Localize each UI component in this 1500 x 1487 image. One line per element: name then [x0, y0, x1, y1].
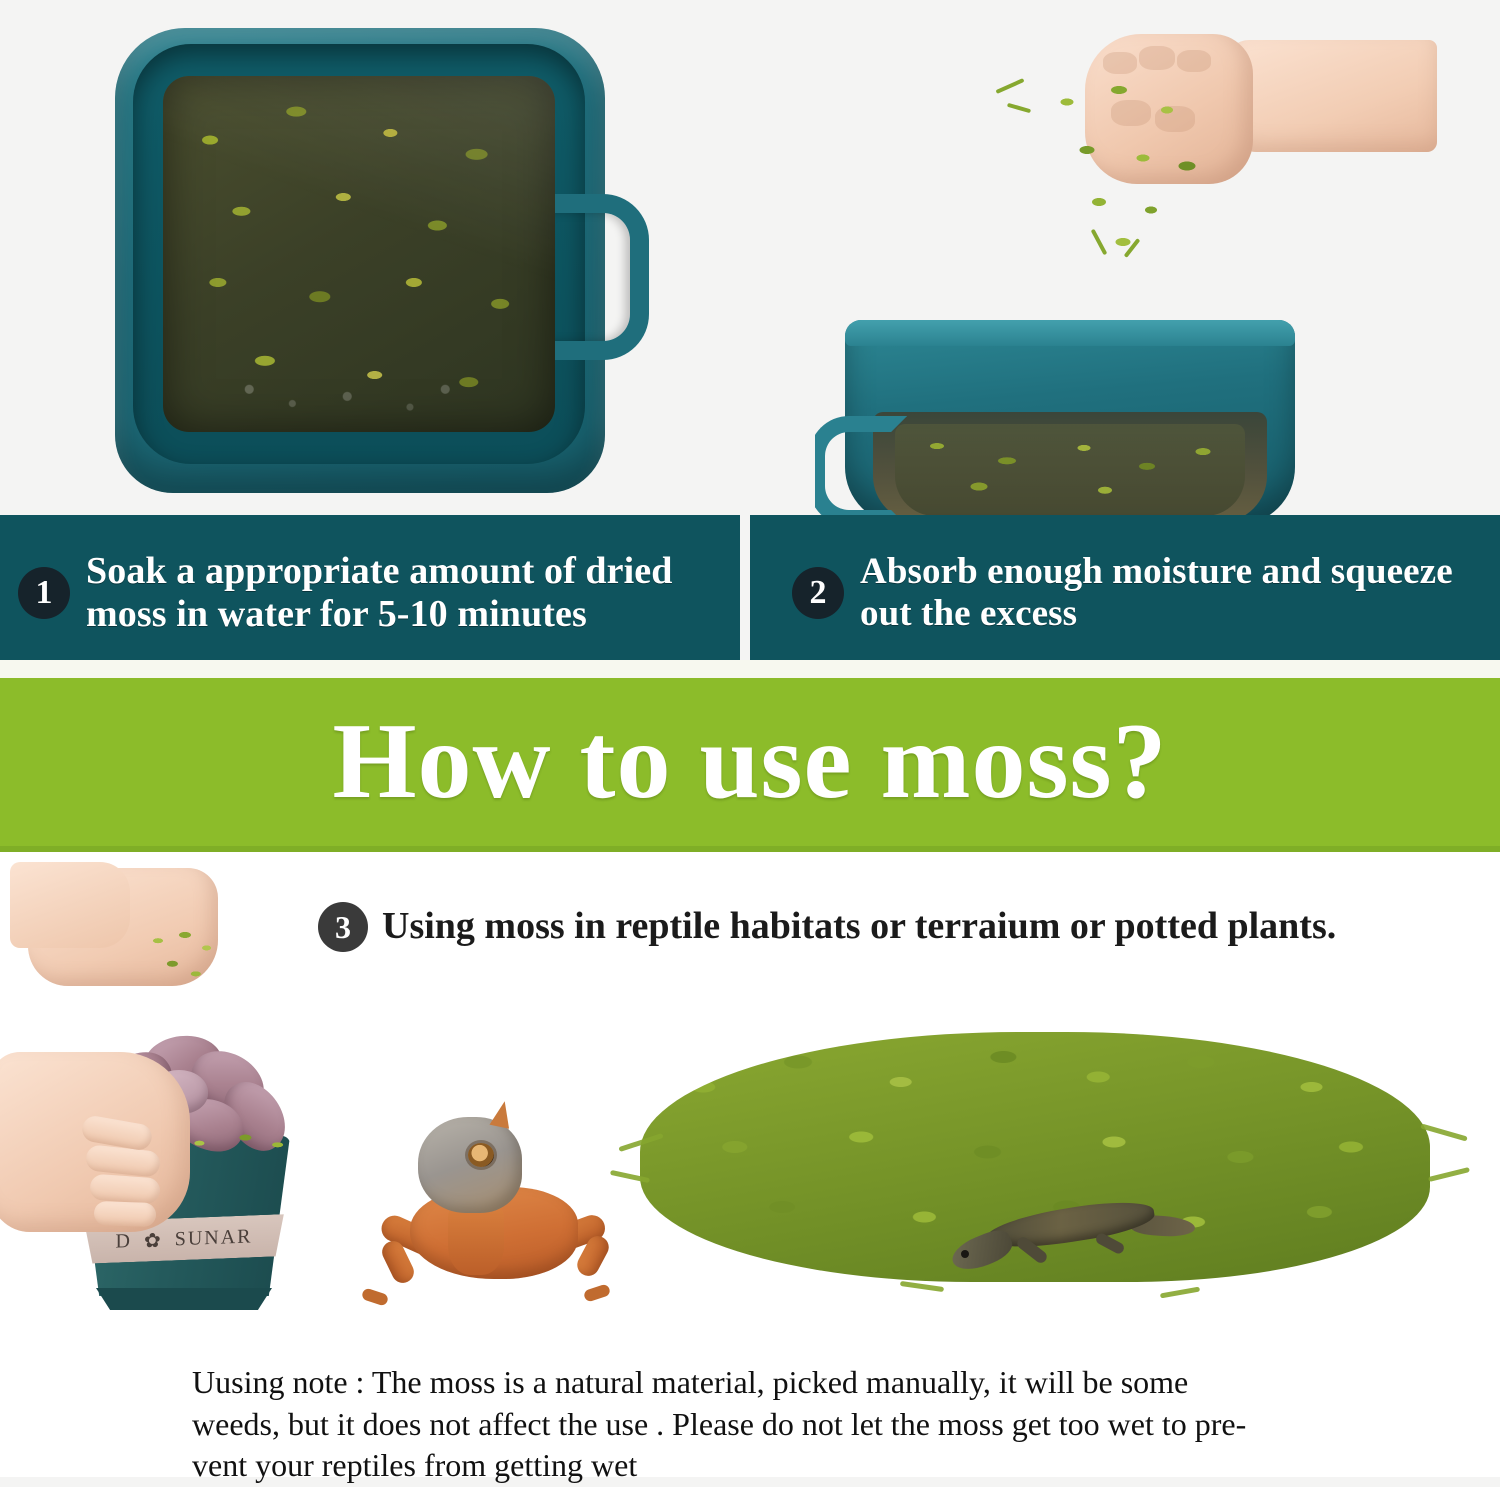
- iguana-dewlap: [448, 1203, 504, 1275]
- teal-basin-side-view: [815, 320, 1335, 515]
- hand-holding-pot: [0, 1052, 190, 1232]
- moss-strand: [1007, 103, 1031, 113]
- salamander-limb: [1094, 1232, 1126, 1256]
- hand-squeezing-moss: [935, 18, 1355, 268]
- usage-note-line-2: weeds, but it does not affect the use . …: [192, 1404, 1352, 1446]
- step-3-caption: 3 Using moss in reptile habitats or terr…: [318, 902, 1336, 952]
- step-2-photo: [755, 0, 1500, 515]
- top-photo-row: [0, 0, 1500, 515]
- soaked-moss: [163, 76, 555, 432]
- finger: [89, 1174, 161, 1205]
- headline-banner: How to use moss?: [0, 678, 1500, 846]
- infographic-page: 1 Soak a appropriate amount of dried mos…: [0, 0, 1500, 1477]
- step-1-text: Soak a appropriate amount of dried moss …: [86, 550, 740, 635]
- basin-lip: [845, 320, 1295, 346]
- step-1-caption: 1 Soak a appropriate amount of dried mos…: [0, 515, 740, 670]
- step-caption-row: 1 Soak a appropriate amount of dried mos…: [0, 515, 1500, 670]
- usage-note: Uusing note : The moss is a natural mate…: [192, 1362, 1352, 1487]
- step-2-badge: 2: [792, 567, 844, 619]
- finger: [85, 1144, 161, 1178]
- pot-label-right: SUNAR: [175, 1225, 253, 1251]
- step-2-caption: 2 Absorb enough moisture and squeeze out…: [750, 515, 1500, 670]
- moss-strand: [995, 78, 1024, 94]
- finger: [94, 1201, 157, 1227]
- moss-floating-in-water: [895, 424, 1245, 515]
- step-3-text: Using moss in reptile habitats or terrai…: [382, 906, 1336, 948]
- iguana-spine-spike: [490, 1099, 515, 1129]
- step-1-photo: [0, 0, 745, 515]
- pot-base: [96, 1288, 272, 1310]
- basin-handle: [815, 416, 907, 515]
- moss-wisp: [900, 1281, 944, 1292]
- iguana-photo: [340, 1095, 640, 1335]
- moss-wisp: [1428, 1167, 1470, 1182]
- finger: [80, 1114, 153, 1152]
- salamander: [945, 1190, 1195, 1300]
- potted-succulent-photo: D ✿ SUNAR: [0, 868, 330, 1333]
- iguana-claw: [361, 1287, 389, 1306]
- iguana-head: [418, 1117, 522, 1213]
- moss-in-hand: [1031, 62, 1231, 262]
- usage-note-line-3: vent your reptiles from getting wet: [192, 1445, 1352, 1487]
- flower-icon: ✿: [144, 1227, 163, 1253]
- iguana-eye: [468, 1143, 494, 1167]
- salamander-head: [948, 1225, 1017, 1276]
- usage-note-line-1: Uusing note : The moss is a natural mate…: [192, 1362, 1352, 1404]
- salamander-eye: [961, 1250, 969, 1258]
- caption-divider: [740, 515, 750, 675]
- teal-basin-with-soaked-moss: [105, 18, 635, 498]
- page-title: How to use moss?: [332, 708, 1167, 816]
- forearm: [10, 862, 130, 948]
- step-2-text: Absorb enough moisture and squeeze out t…: [860, 551, 1500, 634]
- pot-label-left: D: [115, 1230, 131, 1254]
- dried-moss-pile-photo: [600, 1022, 1480, 1322]
- moss-pinch: [140, 922, 230, 994]
- white-separator: [0, 660, 1500, 678]
- step-1-badge: 1: [18, 567, 70, 619]
- forearm: [1227, 40, 1437, 152]
